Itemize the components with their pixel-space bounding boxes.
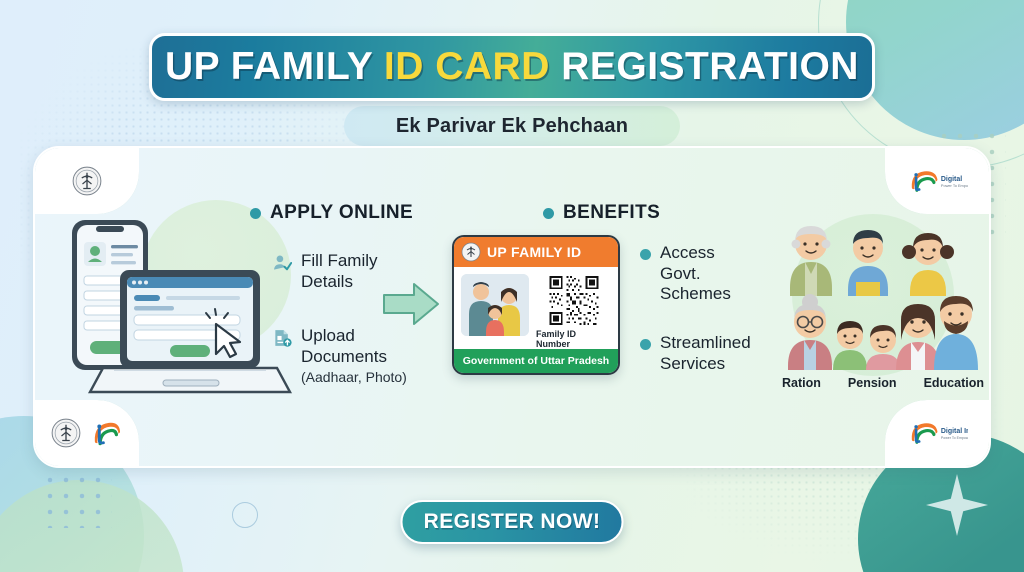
id-card-body: Family ID Number [454,267,618,351]
devices-illustration [58,214,298,404]
apply-step-upload-documents: UploadDocuments(Aadhaar, Photo) [272,326,432,388]
qr-code-icon [546,274,602,327]
benefit-text: AccessGovt.Schemes [660,243,731,305]
svg-text:Digital India: Digital India [941,428,968,435]
title-highlight: ID CARD [384,45,550,88]
section-heading-apply-online: APPLY ONLINE [250,202,413,224]
family-photo [461,274,529,336]
family-benefit-labels: Ration Pension Education [778,376,988,390]
benefits-title: BENEFITS [563,202,660,224]
title-part-1: UP FAMILY [165,45,384,88]
uttar-pradesh-government-emblem-icon [51,418,81,448]
id-card-footer: Government of Uttar Pradesh [454,349,618,373]
benefit-line1: Access [660,243,715,262]
card-corner-bottom-right: Digital India Power To Empower [885,400,989,466]
apply-online-title: APPLY ONLINE [270,202,413,224]
apply-step-text: UploadDocuments(Aadhaar, Photo) [301,326,407,388]
bullet-dot-icon [543,208,554,219]
svg-text:Digital: Digital [941,176,962,183]
qr-label: Family ID Number [536,329,611,349]
title-banner: UP FAMILY ID CARD REGISTRATION [149,33,875,101]
mother-figure [896,304,940,370]
young-man-figure [848,230,888,296]
id-card-title: UP FAMILY ID [487,244,581,260]
benefit-line3: Schemes [660,284,731,303]
apply-step-line2: Documents [301,347,387,366]
boy-figure [833,321,867,370]
apply-step-sub: (Aadhaar, Photo) [301,369,407,385]
digital-india-logo-icon: Digital India Power To Empower [906,420,968,446]
page-title: UP FAMILY ID CARD REGISTRATION [165,45,859,89]
section-heading-benefits: BENEFITS [543,202,660,224]
elderly-woman-figure [788,294,832,370]
father-figure [934,296,978,370]
title-part-2: REGISTRATION [550,45,859,88]
up-family-id-card: UP FAMILY ID [452,235,620,375]
benefit-label-education: Education [924,376,984,390]
digital-india-logo-icon [87,420,123,446]
little-girl-figure [866,325,900,370]
card-corner-top-right: Digital Power To Empower [885,148,989,214]
benefit-line2: Govt. [660,264,701,283]
benefit-access-govt-schemes: AccessGovt.Schemes [640,243,760,305]
register-now-button[interactable]: REGISTER NOW! [401,500,624,544]
user-check-icon [272,253,292,273]
subtitle-pill: Ek Parivar Ek Pehchaan [344,106,680,146]
apply-step-line2: Details [301,272,353,291]
elderly-man-figure [790,226,832,296]
arrow-right-icon [382,281,440,327]
document-upload-icon [272,328,292,348]
svg-text:Power To Empower: Power To Empower [941,183,968,188]
qr-section: Family ID Number [536,274,611,349]
family-photo-illustration [461,274,529,336]
card-corner-bottom-left [35,400,139,466]
digital-india-logo-icon: Digital Power To Empower [906,168,968,194]
benefit-line1: Streamlined [660,333,751,352]
family-beneficiaries-illustration [778,218,983,370]
dot-grid-bottom-left [42,472,112,528]
benefit-label-ration: Ration [782,376,821,390]
bullet-dot-icon [640,249,651,260]
id-card-header: UP FAMILY ID [454,237,618,267]
svg-text:Power To Empower: Power To Empower [941,436,968,440]
benefit-label-pension: Pension [848,376,897,390]
bullet-dot-icon [640,339,651,350]
apply-step-line1: Fill Family [301,251,378,270]
benefit-line2: Services [660,354,725,373]
register-now-label: REGISTER NOW! [424,510,601,534]
benefit-text: StreamlinedServices [660,333,751,374]
benefit-streamlined-services: StreamlinedServices [640,333,770,374]
decorative-ring-small [232,502,258,528]
bullet-dot-icon [250,208,261,219]
uttar-pradesh-government-emblem-icon [72,166,102,196]
card-corner-top-left [35,148,139,214]
girl-figure [902,233,954,296]
uttar-pradesh-government-emblem-icon [461,242,481,262]
subtitle-text: Ek Parivar Ek Pehchaan [396,115,628,138]
apply-step-line1: Upload [301,326,355,345]
id-card-footer-text: Government of Uttar Pradesh [463,355,609,367]
apply-step-text: Fill FamilyDetails [301,251,378,292]
